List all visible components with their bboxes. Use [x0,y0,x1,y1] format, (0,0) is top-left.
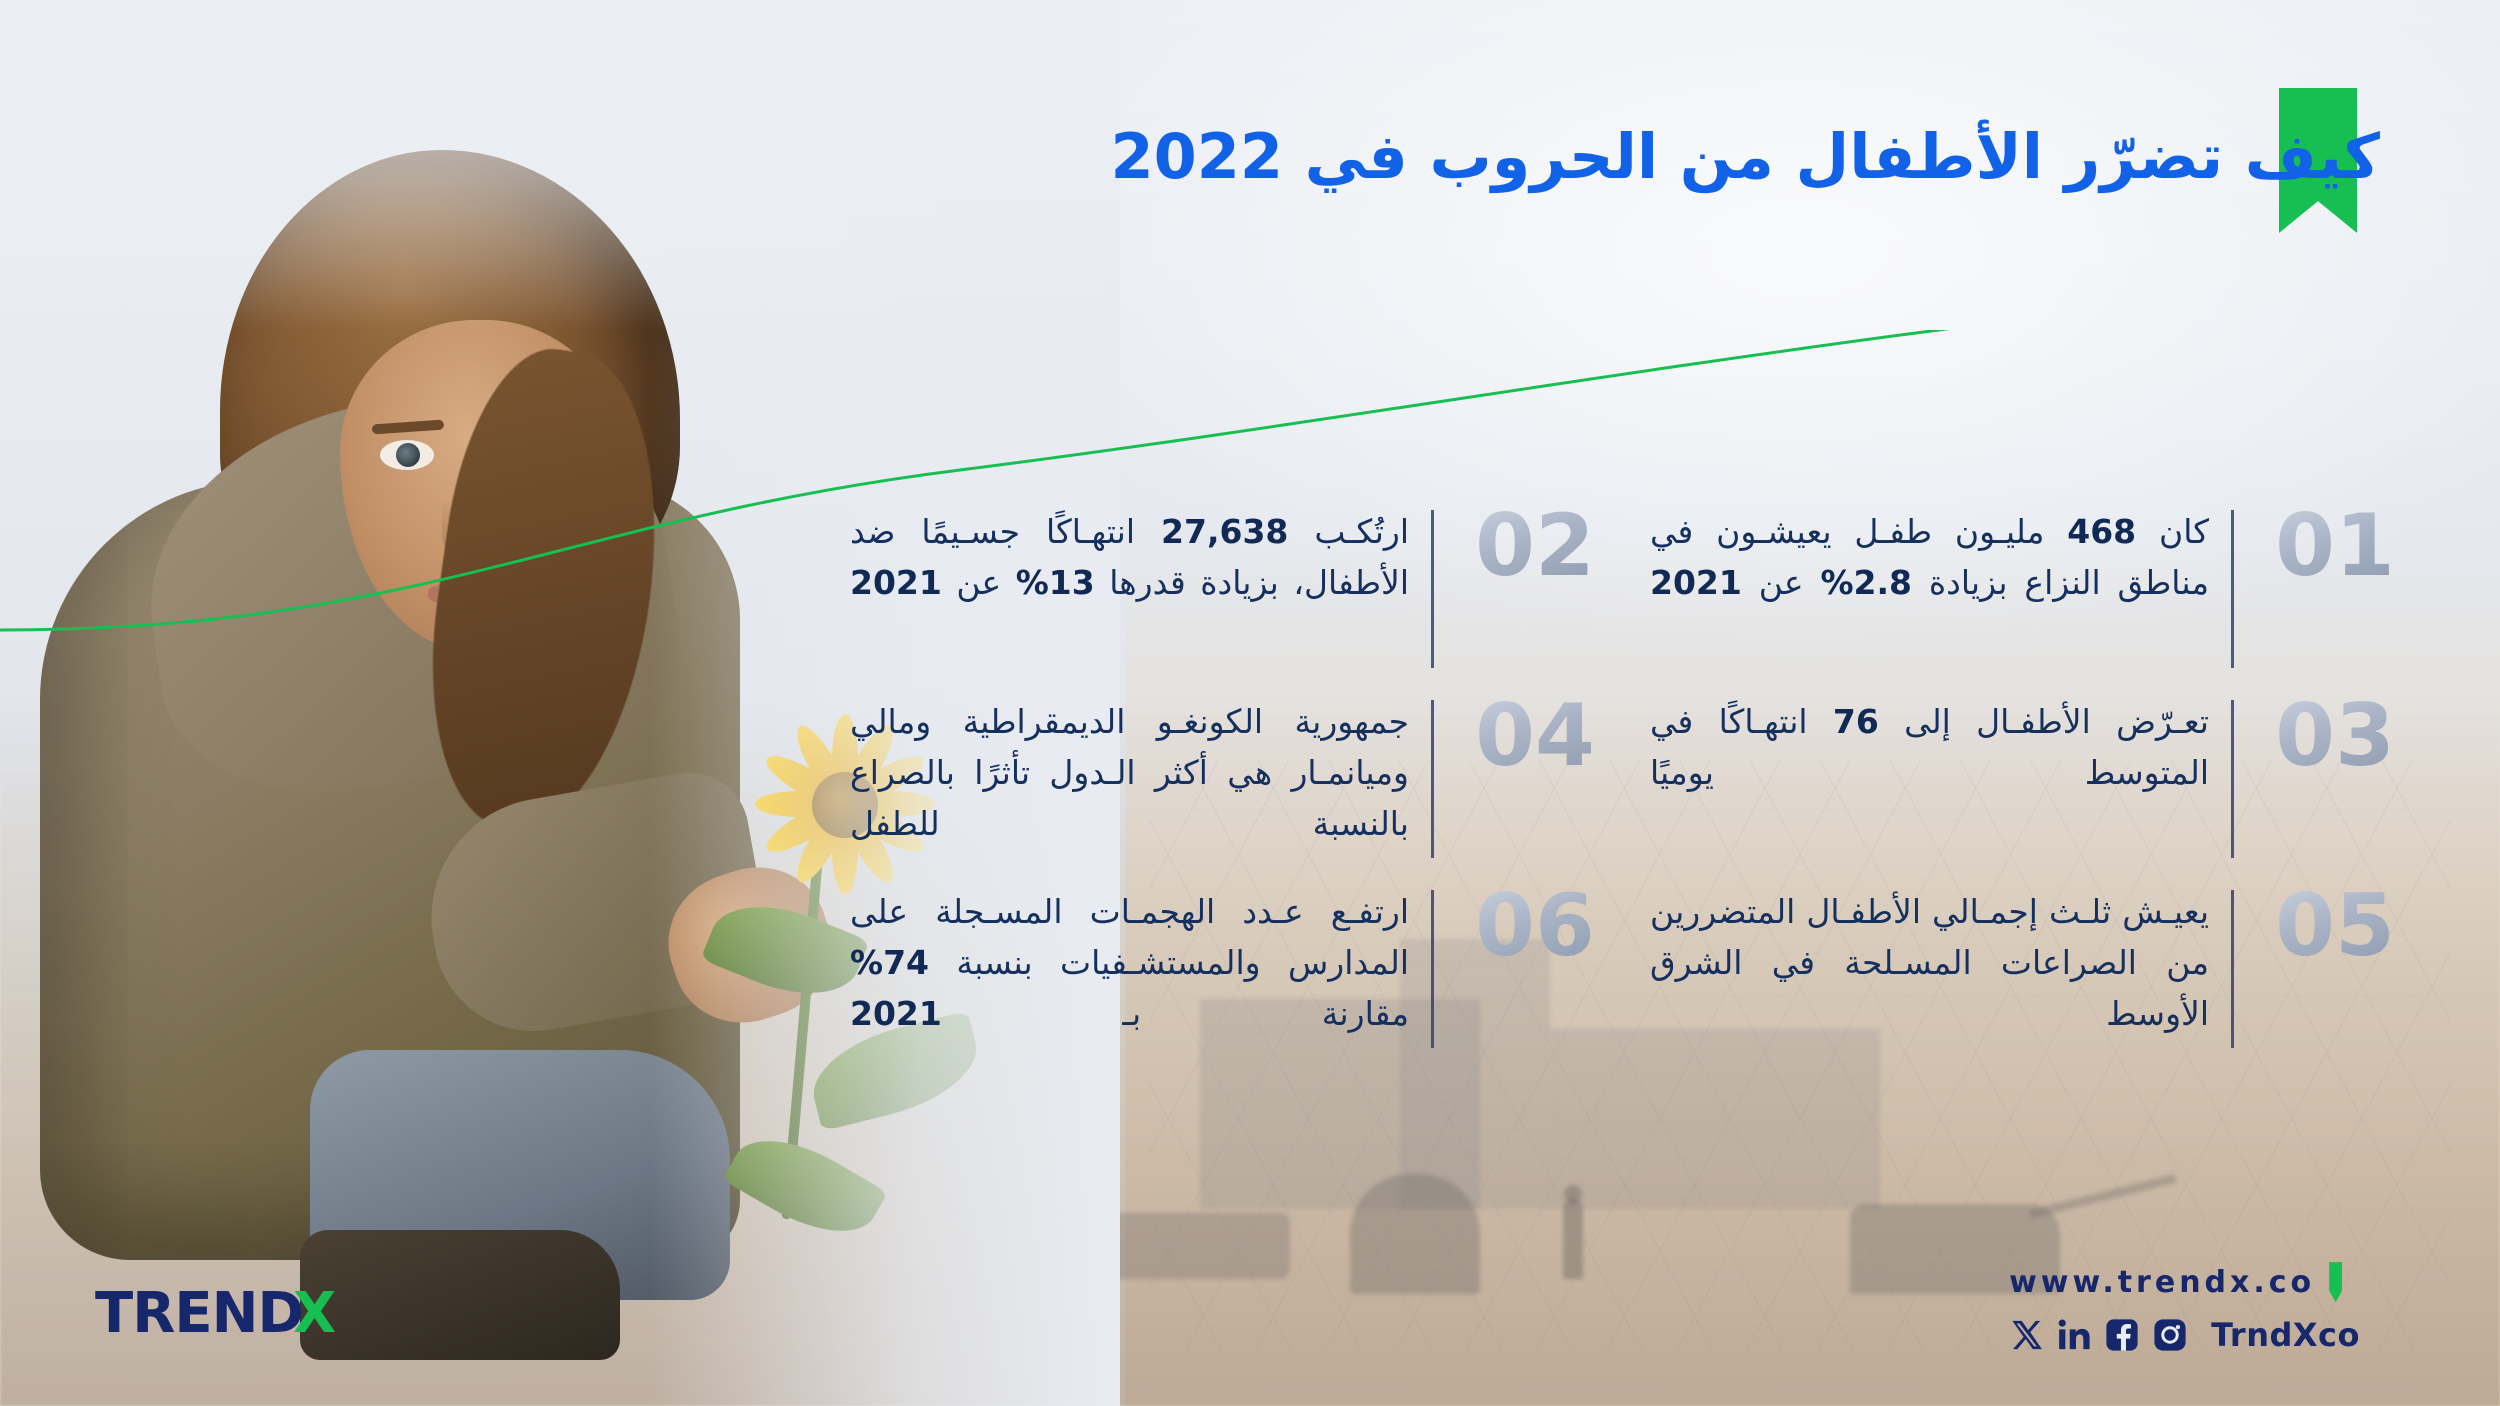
trendx-logo: TRENDX [95,1281,335,1346]
stat-text: تعـرّض الأطفـال إلى 76 انتهـاكًا في المت… [1650,690,2209,798]
stat-text: ارتُكـب 27,638 انتهـاكًا جسـيمًا ضد الأط… [850,500,1409,608]
page-title: كيف تضرّر الأطفال من الحروب في 2022 [1110,92,2380,222]
stat-divider [2231,510,2234,668]
stats-grid: 01 كان 468 مليـون طفـل يعيشـون في مناطق … [850,500,2410,1062]
stat-divider [2231,700,2234,858]
website-url[interactable]: www.trendx.co [2009,1265,2315,1300]
stat-number: 05 [2260,880,2410,968]
linkedin-icon[interactable] [2057,1318,2091,1352]
stat-number: 04 [1460,690,1610,778]
instagram-icon[interactable] [2153,1318,2187,1352]
footer-contact: www.trendx.co [2009,1262,2360,1354]
stat-item-05: 05 يعيـش ثلـث إجمـالي الأطفـال المتضررين… [1650,880,2410,1062]
social-row: TrndXco [2009,1316,2360,1354]
stat-text: كان 468 مليـون طفـل يعيشـون في مناطق الن… [1650,500,2209,608]
stat-divider [1431,700,1434,858]
green-bookmark-icon [2329,1262,2342,1302]
infographic-canvas: كيف تضرّر الأطفال من الحروب في 2022 01 ك… [0,0,2500,1406]
stat-number: 03 [2260,690,2410,778]
stat-number: 06 [1460,880,1610,968]
stat-divider [2231,890,2234,1048]
social-handle[interactable]: TrndXco [2211,1316,2360,1354]
stat-item-02: 02 ارتُكـب 27,638 انتهـاكًا جسـيمًا ضد ا… [850,500,1610,682]
facebook-icon[interactable] [2105,1318,2139,1352]
page-title-text: كيف تضرّر الأطفال من الحروب في 2022 [1110,118,2380,196]
logo-text: TREND [95,1281,303,1346]
logo-accent-x: X [293,1281,335,1346]
x-twitter-icon[interactable] [2009,1318,2043,1352]
stat-number: 01 [2260,500,2410,588]
stat-text: ارتفـع عـدد الهجمـات المسـجلة على المدار… [850,880,1409,1039]
stat-divider [1431,890,1434,1048]
stat-item-01: 01 كان 468 مليـون طفـل يعيشـون في مناطق … [1650,500,2410,682]
stat-divider [1431,510,1434,668]
stat-number: 02 [1460,500,1610,588]
stat-item-04: 04 جمهورية الكونغـو الديمقراطية ومالي وم… [850,690,1610,872]
website-row[interactable]: www.trendx.co [2009,1262,2360,1302]
stat-item-06: 06 ارتفـع عـدد الهجمـات المسـجلة على الم… [850,880,1610,1062]
stat-item-03: 03 تعـرّض الأطفـال إلى 76 انتهـاكًا في ا… [1650,690,2410,872]
stat-text: جمهورية الكونغـو الديمقراطية ومالي وميان… [850,690,1409,849]
photo-fade-top [0,0,1120,330]
stat-text: يعيـش ثلـث إجمـالي الأطفـال المتضررين من… [1650,880,2209,1039]
